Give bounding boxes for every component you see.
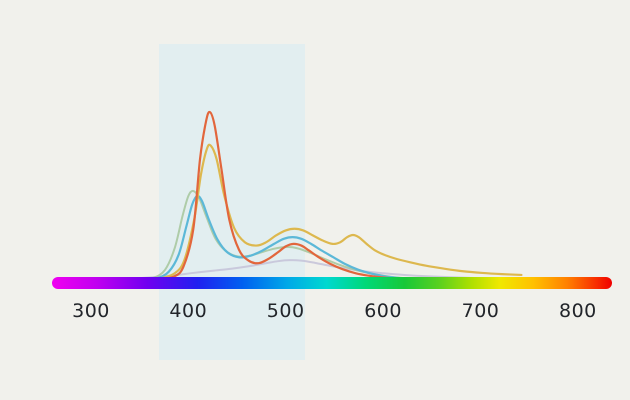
axis-tick-400: 400 — [148, 300, 228, 322]
visible-spectrum-colorbar — [52, 277, 612, 289]
spectrum-plot: 300400500600700800 — [0, 0, 630, 400]
axis-tick-800: 800 — [538, 300, 618, 322]
x-axis-tick-labels: 300400500600700800 — [0, 300, 630, 326]
spectrum-curve-sample-gold — [147, 145, 521, 280]
spectrum-curve-sample-orange-red — [145, 112, 408, 280]
axis-tick-600: 600 — [343, 300, 423, 322]
axis-tick-300: 300 — [51, 300, 131, 322]
spectra-curves-layer — [0, 0, 630, 400]
axis-tick-500: 500 — [246, 300, 326, 322]
axis-tick-700: 700 — [441, 300, 521, 322]
